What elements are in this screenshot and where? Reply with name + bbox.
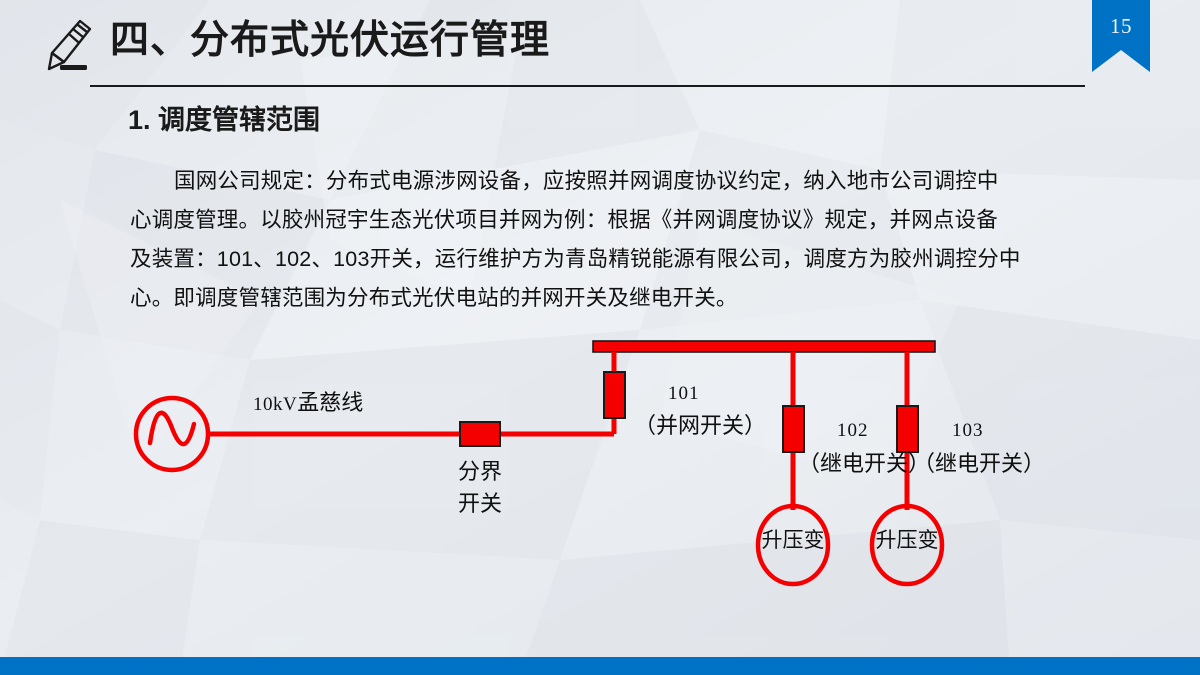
body-line: 心。即调度管辖范围为分布式光伏电站的并网开关及继电开关。 — [130, 279, 1152, 318]
body-paragraph: 国网公司规定：分布式电源涉网设备，应按照并网调度协议约定，纳入地市公司调控中 心… — [130, 162, 1152, 318]
boundary-switch-label-line1: 分界 — [440, 458, 520, 486]
breaker-102-number: 102 — [837, 420, 869, 442]
footer-band — [0, 657, 1200, 675]
feeder-voltage-label: 10kV — [253, 394, 297, 415]
breaker-101-name: （并网开关） — [634, 412, 766, 440]
title-divider — [90, 85, 1085, 87]
transformer-1-label: 升压变 — [748, 524, 838, 554]
feeder-name-label: 孟慈线 — [297, 390, 363, 415]
slide-canvas: 四、分布式光伏运行管理 1. 调度管辖范围 15 国网公司规定：分布式电源涉网设… — [0, 0, 1200, 675]
body-line: 及装置：101、102、103开关，运行维护方为青岛精锐能源有限公司，调度方为胶… — [130, 240, 1152, 279]
page-title: 四、分布式光伏运行管理 — [110, 14, 550, 68]
boundary-switch-label-line2: 开关 — [440, 490, 520, 518]
body-line: 心调度管理。以胶州冠宇生态光伏项目并网为例：根据《并网调度协议》规定，并网点设备 — [130, 201, 1152, 240]
page-number-badge: 15 — [1092, 0, 1150, 72]
breaker-103-number: 103 — [952, 420, 984, 442]
breaker-101-number: 101 — [668, 383, 700, 405]
body-line: 国网公司规定：分布式电源涉网设备，应按照并网调度协议约定，纳入地市公司调控中 — [130, 162, 1152, 201]
feeder-line-label: 10kV孟慈线 — [253, 385, 363, 417]
breaker-102-name: （继电开关） — [798, 450, 930, 478]
pencil-icon — [42, 17, 94, 75]
breaker-103-name: （继电开关） — [913, 450, 1045, 478]
transformer-2-label: 升压变 — [862, 524, 952, 554]
page-number-text: 15 — [1092, 14, 1150, 39]
section-heading: 1. 调度管辖范围 — [128, 101, 320, 139]
